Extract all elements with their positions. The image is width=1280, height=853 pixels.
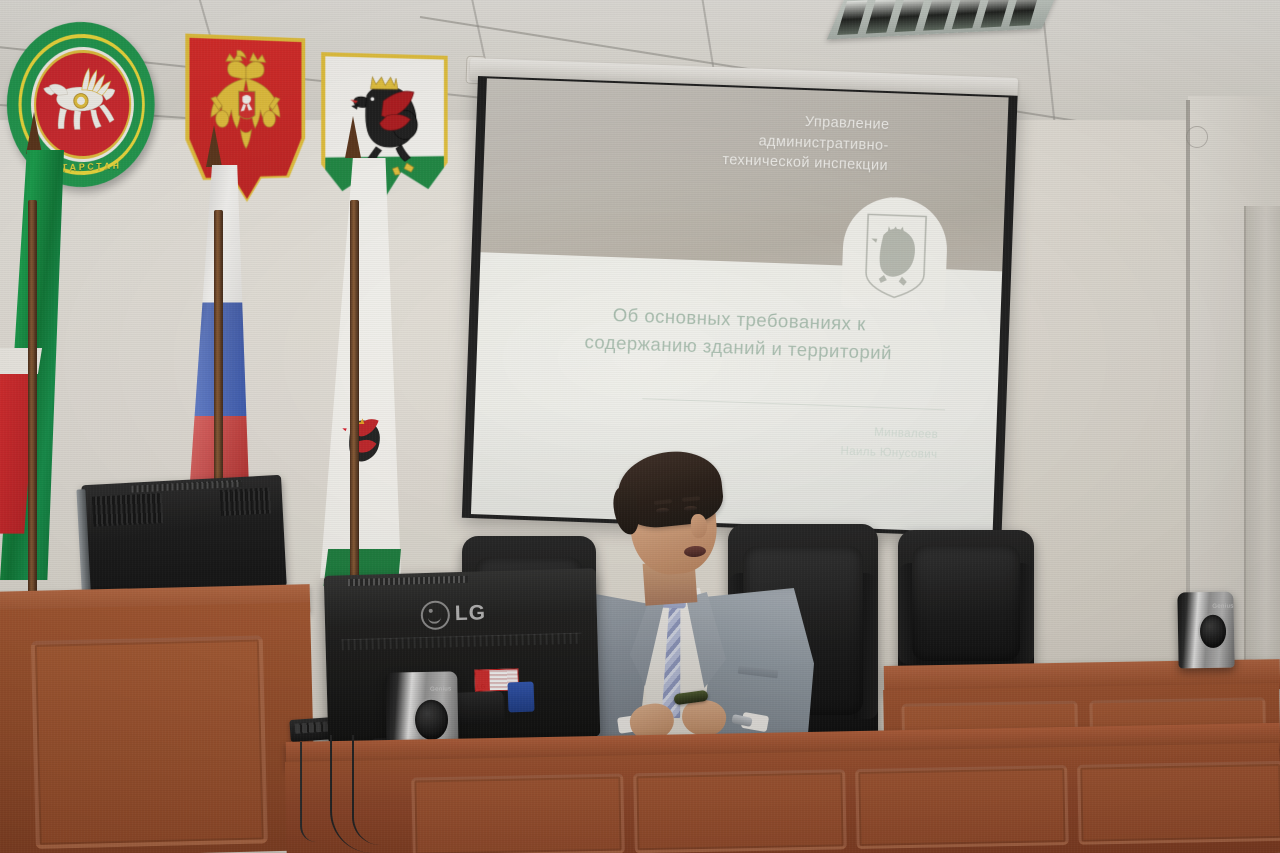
wall-circular-mark (1186, 126, 1208, 148)
cable (300, 742, 316, 842)
wooden-podium (0, 602, 316, 853)
sticker-lg-text: LG (477, 684, 486, 690)
cable (352, 735, 380, 845)
vga-connector (507, 682, 534, 713)
speaker-brand-label: Genius (1212, 604, 1234, 610)
office-chair (898, 530, 1034, 682)
desk-device-box (451, 691, 504, 725)
conference-room-photo: ТАТАРСТАН (0, 0, 1280, 853)
lg-logo-icon: LG (420, 599, 507, 629)
lg-logo-text: LG (454, 601, 486, 626)
flagpole-kazan (350, 200, 359, 580)
slide-divider (642, 398, 945, 410)
speaker-brand-label: Genius (430, 686, 452, 692)
ak-bars-winged-leopard-icon (39, 57, 128, 145)
podium-panel (31, 635, 268, 849)
slide-zilant-logo-icon (861, 213, 930, 301)
flag-dragon-icon (339, 360, 394, 536)
table-front (285, 743, 1280, 853)
slide-organization-heading: Управление административно- технической … (588, 104, 890, 177)
computer-speaker-right: Genius (1177, 592, 1234, 669)
rear-facing-monitor (81, 475, 287, 597)
